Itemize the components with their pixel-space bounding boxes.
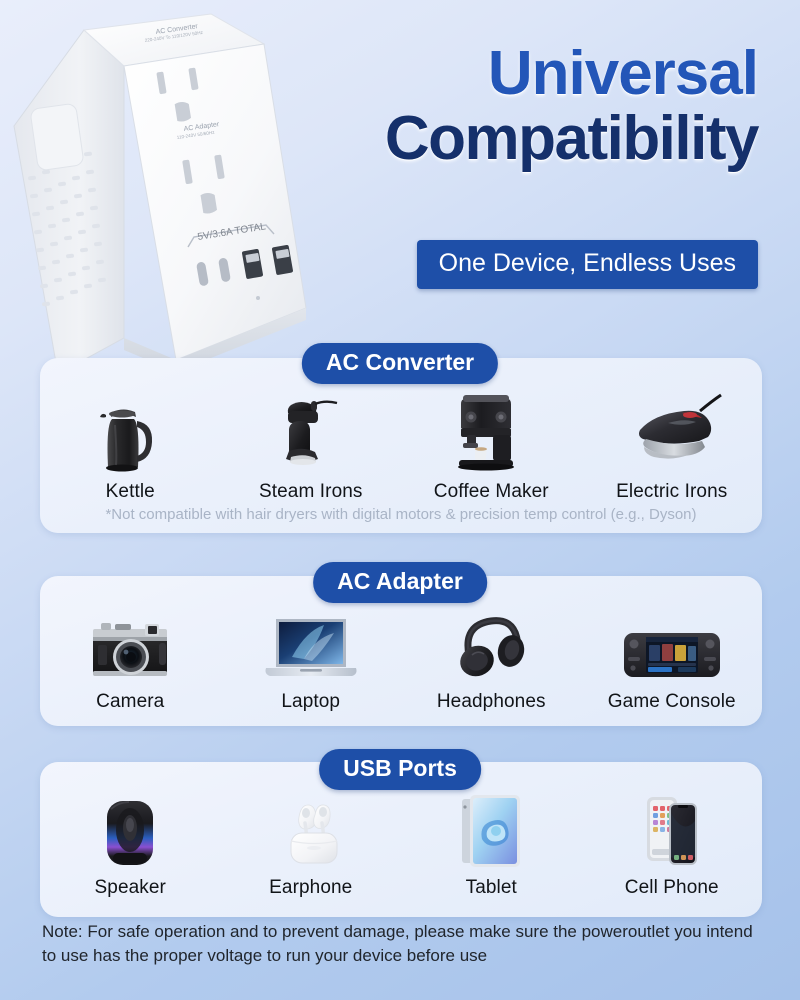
item-label: Game Console — [582, 691, 763, 713]
hero-title-line1: Universal — [288, 44, 758, 105]
kettle-icon — [40, 388, 221, 473]
coffee-maker-icon — [401, 388, 582, 473]
earbuds-case-icon — [221, 784, 402, 869]
section-disclaimer: *Not compatible with hair dryers with di… — [40, 506, 762, 523]
electric-iron-icon — [582, 388, 763, 473]
item-cell-phone: Cell Phone — [582, 784, 763, 899]
item-label: Tablet — [401, 877, 582, 899]
item-label: Headphones — [401, 691, 582, 713]
item-tablet: Tablet — [401, 784, 582, 899]
hero-subtitle-bar: One Device, Endless Uses — [417, 240, 758, 289]
headphones-icon — [401, 598, 582, 683]
item-laptop: Laptop — [221, 598, 402, 713]
section-badge-ac-converter: AC Converter — [302, 343, 498, 384]
hero-banner: AC Converter 220-240V To 110/120V 50Hz A… — [0, 0, 800, 345]
item-game-console: Game Console — [582, 598, 763, 713]
items-row-ac-adapter: Camera — [40, 598, 762, 713]
tablet-icon — [401, 784, 582, 869]
item-label: Earphone — [221, 877, 402, 899]
item-earphone: Earphone — [221, 784, 402, 899]
item-label: Kettle — [40, 481, 221, 503]
item-label: Electric Irons — [582, 481, 763, 503]
section-badge-ac-adapter: AC Adapter — [313, 562, 487, 603]
speaker-icon — [40, 784, 221, 869]
steam-iron-icon — [221, 388, 402, 473]
item-label: Steam Irons — [221, 481, 402, 503]
items-row-ac-converter: Kettle — [40, 388, 762, 503]
item-label: Speaker — [40, 877, 221, 899]
item-speaker: Speaker — [40, 784, 221, 899]
camera-icon — [40, 598, 221, 683]
item-electric-irons: Electric Irons — [582, 388, 763, 503]
item-label: Cell Phone — [582, 877, 763, 899]
item-kettle: Kettle — [40, 388, 221, 503]
item-coffee-maker: Coffee Maker — [401, 388, 582, 503]
section-ac-converter: Kettle — [40, 358, 762, 533]
footer-note: Note: For safe operation and to prevent … — [42, 920, 762, 968]
cell-phone-icon — [582, 784, 763, 869]
item-label: Laptop — [221, 691, 402, 713]
item-label: Coffee Maker — [401, 481, 582, 503]
item-camera: Camera — [40, 598, 221, 713]
hero-title-line2: Compatibility — [288, 107, 758, 170]
hero-title: Universal Compatibility — [288, 44, 758, 170]
section-badge-usb-ports: USB Ports — [319, 749, 481, 790]
item-headphones: Headphones — [401, 598, 582, 713]
laptop-icon — [221, 598, 402, 683]
game-console-icon — [582, 598, 763, 683]
item-label: Camera — [40, 691, 221, 713]
items-row-usb-ports: Speaker — [40, 784, 762, 899]
item-steam-irons: Steam Irons — [221, 388, 402, 503]
